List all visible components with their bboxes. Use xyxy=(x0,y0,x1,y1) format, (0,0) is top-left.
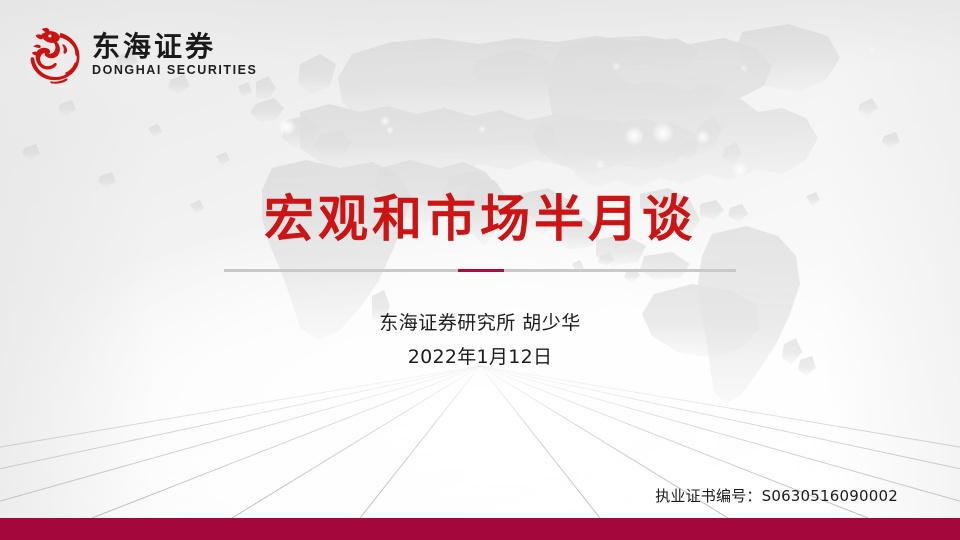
title-divider-accent xyxy=(458,269,504,272)
brand-logo-text: 东海证券 DONGHAI SECURITIES xyxy=(92,30,257,78)
title-divider xyxy=(224,269,736,272)
brand-logo: 东海证券 DONGHAI SECURITIES xyxy=(22,23,272,85)
company-name-cn: 东海证券 xyxy=(92,32,257,61)
dragon-logo-icon xyxy=(22,23,84,85)
certificate-number: 执业证书编号：S0630516090002 xyxy=(655,485,898,506)
subtitle-organization-author: 东海证券研究所 胡少华 xyxy=(0,308,960,335)
bottom-accent-bar xyxy=(0,518,960,540)
company-name-en: DONGHAI SECURITIES xyxy=(92,63,257,78)
page-title: 宏观和市场半月谈 xyxy=(0,190,960,249)
subtitle-date: 2022年1月12日 xyxy=(0,342,960,369)
title-slide: 东海证券 DONGHAI SECURITIES 宏观和市场半月谈 东海证券研究所… xyxy=(0,0,960,540)
